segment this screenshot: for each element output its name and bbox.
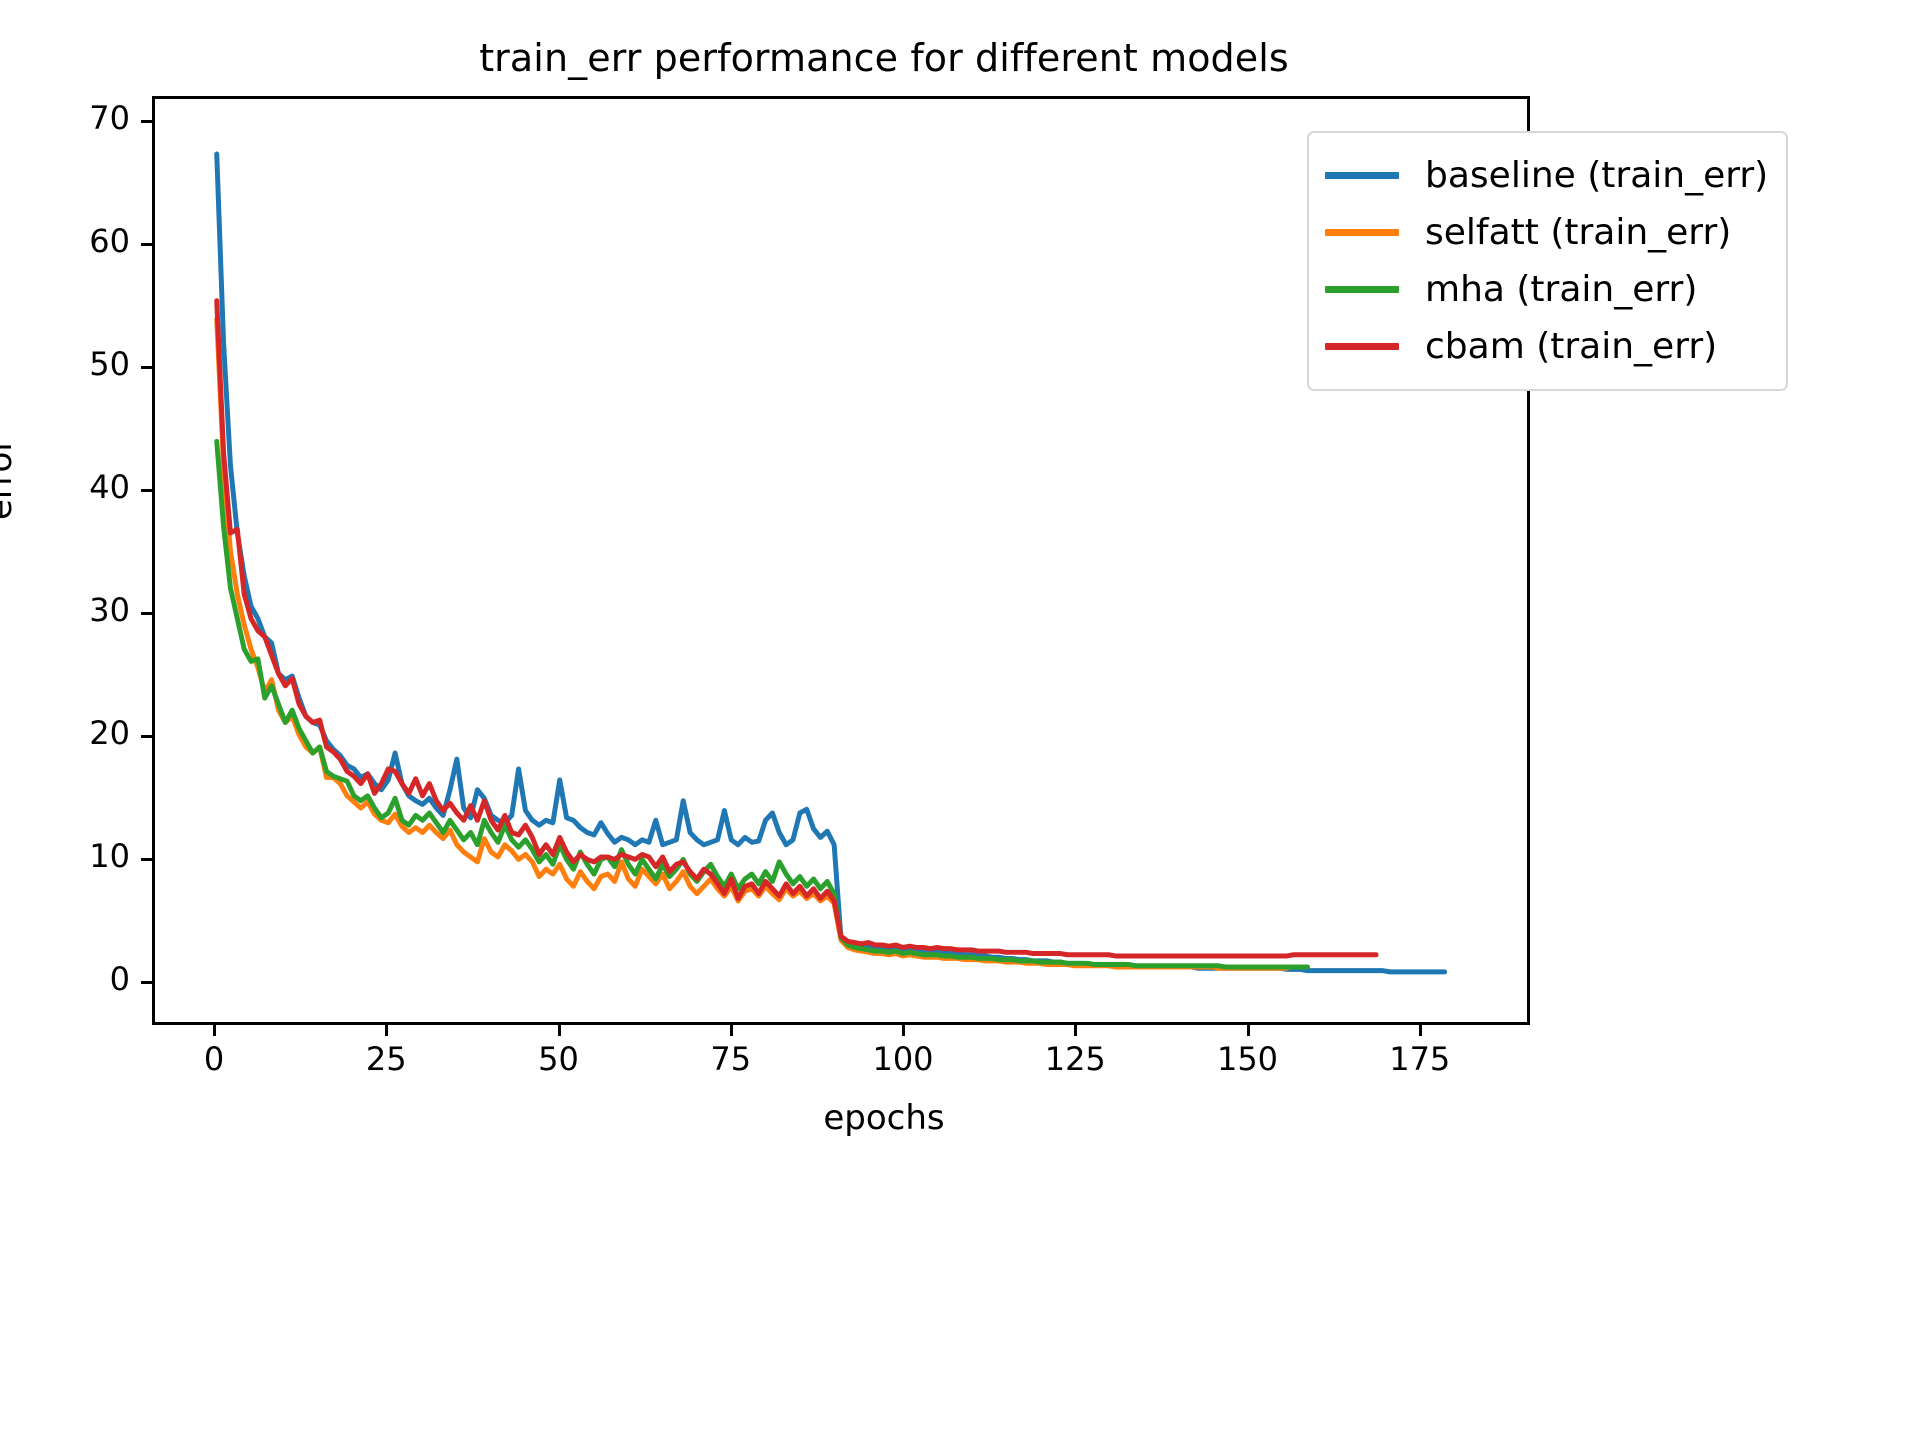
x-axis-tick-mark xyxy=(730,1025,733,1036)
y-axis-tick-label: 60 xyxy=(40,222,130,260)
x-axis-tick-mark xyxy=(1247,1025,1250,1036)
y-axis-tick-mark xyxy=(141,735,152,738)
series-line xyxy=(217,301,1376,956)
series-line xyxy=(217,319,1287,968)
y-axis-tick-label: 50 xyxy=(40,345,130,383)
y-axis-tick-label: 40 xyxy=(40,468,130,506)
y-axis-tick-mark xyxy=(141,366,152,369)
x-axis-tick-label: 75 xyxy=(710,1040,751,1078)
x-axis-tick-label: 150 xyxy=(1217,1040,1278,1078)
y-axis-tick-mark xyxy=(141,981,152,984)
legend-color-swatch xyxy=(1325,343,1399,350)
legend-color-swatch xyxy=(1325,229,1399,236)
x-axis-tick-mark xyxy=(558,1025,561,1036)
x-axis-tick-mark xyxy=(1074,1025,1077,1036)
y-axis-label: error xyxy=(0,438,20,520)
legend-item[interactable]: mha (train_err) xyxy=(1325,261,1768,318)
legend-item-label: cbam (train_err) xyxy=(1425,329,1717,365)
x-axis-tick-label: 0 xyxy=(204,1040,224,1078)
y-axis-tick-label: 10 xyxy=(40,837,130,875)
x-axis-label: epochs xyxy=(0,1098,1844,1138)
y-axis-tick-label: 20 xyxy=(40,714,130,752)
legend-item[interactable]: selfatt (train_err) xyxy=(1325,204,1768,261)
y-axis-tick-mark xyxy=(141,243,152,246)
x-axis-tick-label: 50 xyxy=(538,1040,579,1078)
legend-item[interactable]: baseline (train_err) xyxy=(1325,147,1768,204)
x-axis-tick-label: 25 xyxy=(366,1040,407,1078)
x-axis-tick-label: 175 xyxy=(1389,1040,1450,1078)
x-axis-tick-label: 100 xyxy=(872,1040,933,1078)
legend-item-label: baseline (train_err) xyxy=(1425,158,1768,194)
legend[interactable]: baseline (train_err)selfatt (train_err)m… xyxy=(1307,131,1788,391)
legend-item-label: mha (train_err) xyxy=(1425,272,1697,308)
legend-color-swatch xyxy=(1325,286,1399,293)
x-axis-tick-mark xyxy=(902,1025,905,1036)
x-axis-tick-label: 125 xyxy=(1045,1040,1106,1078)
x-axis-tick-mark xyxy=(385,1025,388,1036)
y-axis-tick-mark xyxy=(141,858,152,861)
chart-figure: train_err performance for different mode… xyxy=(0,0,1920,1440)
legend-item[interactable]: cbam (train_err) xyxy=(1325,318,1768,375)
series-line xyxy=(217,154,1445,972)
y-axis-tick-label: 70 xyxy=(40,99,130,137)
legend-item-label: selfatt (train_err) xyxy=(1425,215,1731,251)
x-axis-tick-mark xyxy=(1419,1025,1422,1036)
y-axis-tick-label: 30 xyxy=(40,591,130,629)
y-axis-tick-mark xyxy=(141,489,152,492)
x-axis-tick-mark xyxy=(213,1025,216,1036)
y-axis-tick-mark xyxy=(141,120,152,123)
y-axis-tick-label: 0 xyxy=(40,960,130,998)
chart-title: train_err performance for different mode… xyxy=(0,36,1844,80)
y-axis-tick-mark xyxy=(141,612,152,615)
legend-color-swatch xyxy=(1325,172,1399,179)
